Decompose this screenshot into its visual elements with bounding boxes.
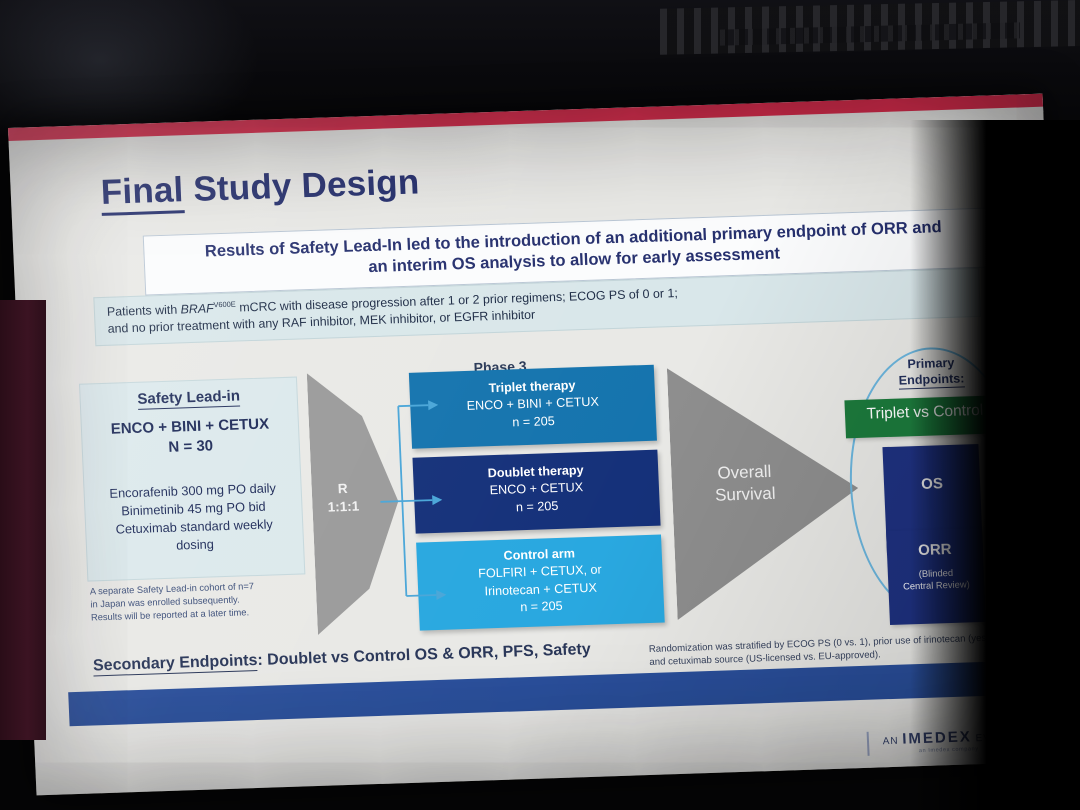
page-title: Final Study Design bbox=[100, 162, 420, 213]
imedex-logo-pre: AN bbox=[882, 736, 902, 748]
endpoint-orr-sub-2: Central Review) bbox=[888, 578, 984, 593]
safety-leadin-dosing: Encorafenib 300 mg PO daily Binimetinib … bbox=[84, 478, 303, 558]
endpoint-orr-sub: (Blinded Central Review) bbox=[888, 566, 985, 594]
safety-leadin-regimen: ENCO + BINI + CETUX N = 30 bbox=[82, 414, 300, 460]
endpoint-orr-box: ORR (Blinded Central Review) bbox=[886, 528, 986, 625]
gene-variant: V600E bbox=[213, 300, 236, 310]
overall-survival-arrow: Overall Survival bbox=[667, 362, 864, 620]
projection-room: Final Study Design Results of Safety Lea… bbox=[0, 0, 1080, 810]
projected-slide-wrapper: Final Study Design Results of Safety Lea… bbox=[8, 93, 1080, 810]
safety-leadin-header: Safety Lead-in bbox=[80, 386, 297, 410]
overall-survival-label: Overall Survival bbox=[689, 460, 801, 507]
endpoint-orr-label: ORR bbox=[887, 540, 984, 560]
slide-canvas: Final Study Design Results of Safety Lea… bbox=[8, 94, 1071, 796]
arm-control: Control arm FOLFIRI + CETUX, or Irinotec… bbox=[416, 535, 665, 631]
overall-survival-line-2: Survival bbox=[690, 482, 801, 507]
safety-leadin-box: Safety Lead-in ENCO + BINI + CETUX N = 3… bbox=[79, 377, 305, 582]
randomization-ratio: 1:1:1 bbox=[312, 497, 375, 517]
left-wall-panel bbox=[0, 300, 46, 740]
gene-name: BRAF bbox=[180, 301, 214, 316]
randomization-letter: R bbox=[311, 479, 374, 499]
page-title-rest: Study Design bbox=[183, 162, 421, 209]
secondary-endpoints: Secondary Endpoints: Doublet vs Control … bbox=[93, 641, 591, 675]
safety-leadin-footnote: A separate Safety Lead-in cohort of n=7 … bbox=[90, 578, 304, 623]
eligibility-prefix: Patients with bbox=[107, 302, 181, 318]
imedex-logo: AN IMEDEX EVENT an Imedex company bbox=[866, 726, 1030, 755]
imedex-logo-post: EVENT bbox=[972, 732, 1015, 744]
secondary-endpoints-detail: Doublet vs Control OS & ORR, PFS, Safety bbox=[267, 641, 591, 669]
primary-comparison-badge: Triplet vs Control bbox=[844, 395, 1006, 438]
imedex-logo-brand: IMEDEX bbox=[902, 728, 972, 747]
primary-endpoints-header: Primary Endpoints: bbox=[861, 353, 1002, 390]
arm-doublet-therapy: Doublet therapy ENCO + CETUX n = 205 bbox=[412, 450, 660, 534]
secondary-endpoints-label: Secondary Endpoints bbox=[93, 652, 258, 676]
arm-triplet-therapy: Triplet therapy ENCO + BINI + CETUX n = … bbox=[409, 365, 657, 449]
randomization-connectors bbox=[375, 369, 448, 633]
randomization-label: R 1:1:1 bbox=[311, 479, 375, 517]
primary-endpoints-header-2: Endpoints: bbox=[898, 372, 964, 390]
safety-leadin-header-text: Safety Lead-in bbox=[137, 387, 240, 409]
secondary-endpoints-colon: : bbox=[257, 652, 263, 669]
page-title-underlined-word: Final bbox=[100, 170, 184, 216]
